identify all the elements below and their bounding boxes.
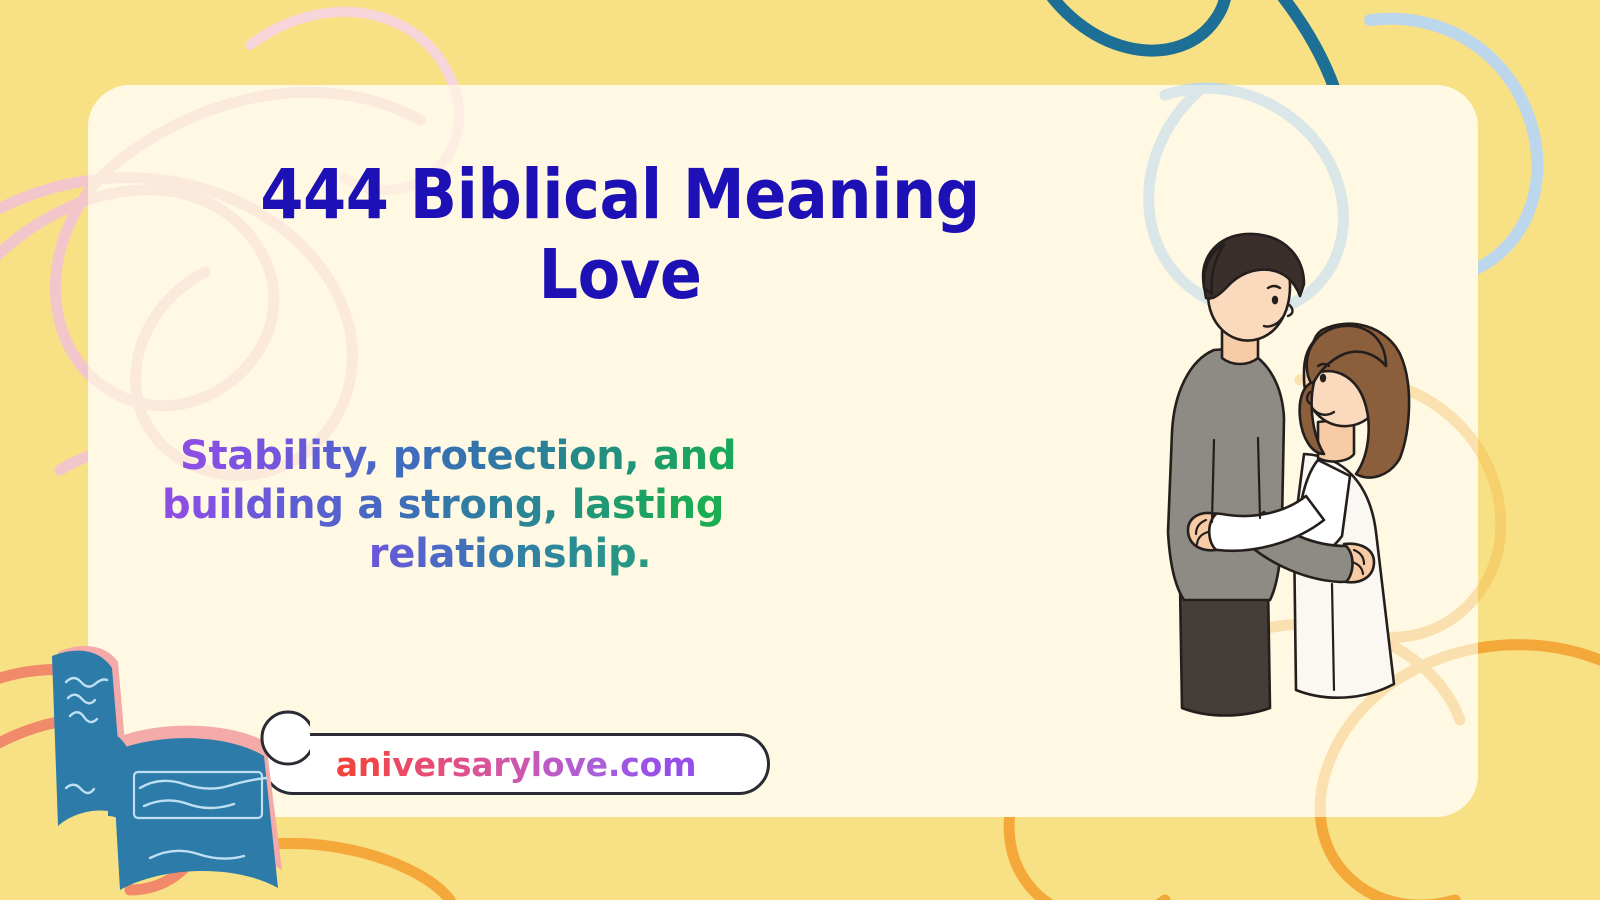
poster-canvas: 444 Biblical Meaning Love Stability, pro… (0, 0, 1600, 900)
subtitle-line-3: relationship. (150, 530, 870, 579)
teal-swirl-top-right (1040, 0, 1226, 51)
book-group (52, 646, 310, 890)
website-url-badge[interactable]: aniversarylove.com (262, 733, 770, 795)
page-title: 444 Biblical Meaning Love (188, 155, 1052, 315)
subtitle-line-2: building a strong, lasting (162, 481, 870, 530)
subtitle-line-1: Stability, protection, and (180, 432, 870, 481)
title-line-2: Love (538, 235, 701, 315)
book-right-cover (112, 738, 278, 890)
title-line-1: 444 Biblical Meaning (260, 155, 979, 235)
subtitle-text: Stability, protection, and building a st… (150, 432, 870, 578)
book-circle-accent (262, 712, 310, 764)
open-book-illustration (20, 620, 310, 900)
website-url-text: aniversarylove.com (336, 745, 697, 784)
man-trousers (1180, 584, 1270, 716)
embracing-couple-illustration (1118, 232, 1448, 742)
man-sweater (1168, 348, 1284, 600)
